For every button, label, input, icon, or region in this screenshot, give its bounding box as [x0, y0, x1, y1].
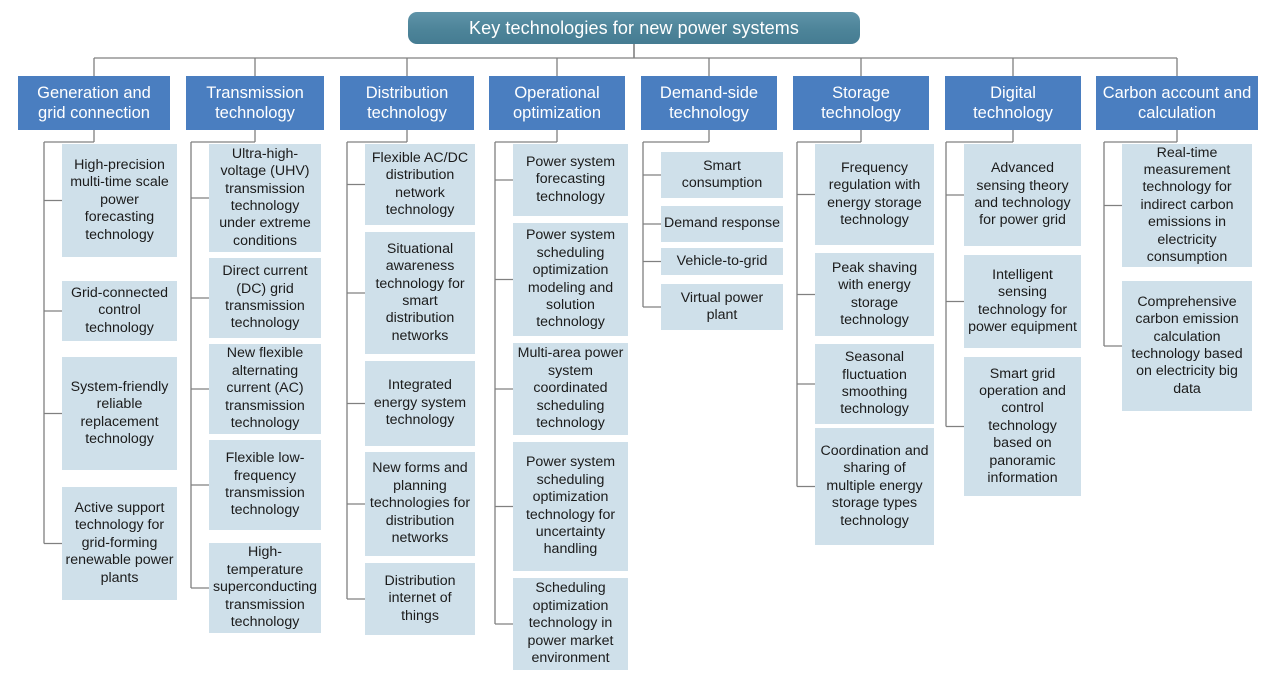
leaf-node[interactable]: Smart grid operation and control technol…: [964, 357, 1081, 496]
leaf-node[interactable]: Distribution internet of things: [365, 563, 475, 635]
column-header-label: Operational optimization: [493, 83, 621, 123]
leaf-node-label: Flexible AC/DC distribution network tech…: [368, 150, 472, 220]
column-header-label: Transmission technology: [190, 83, 320, 123]
leaf-node[interactable]: Scheduling optimization technology in po…: [513, 578, 628, 670]
leaf-node[interactable]: Intelligent sensing technology for power…: [964, 255, 1081, 348]
leaf-node-label: Active support technology for grid-formi…: [65, 500, 174, 587]
leaf-node-label: Distribution internet of things: [368, 573, 472, 625]
column-header-label: Generation and grid connection: [22, 83, 166, 123]
column-header-1[interactable]: Generation and grid connection: [18, 76, 170, 130]
leaf-node-label: Virtual power plant: [664, 290, 780, 325]
leaf-node-label: New forms and planning technologies for …: [368, 460, 472, 547]
leaf-node[interactable]: Flexible AC/DC distribution network tech…: [365, 144, 475, 225]
column-header-5[interactable]: Demand-side technology: [641, 76, 777, 130]
leaf-node[interactable]: Vehicle-to-grid: [661, 248, 783, 275]
leaf-node[interactable]: System-friendly reliable replacement tec…: [62, 357, 177, 470]
leaf-node-label: Smart consumption: [664, 158, 780, 193]
leaf-node-label: Direct current (DC) grid transmission te…: [212, 263, 318, 333]
leaf-node-label: Smart grid operation and control technol…: [967, 366, 1078, 488]
leaf-node[interactable]: Real-time measurement technology for ind…: [1122, 144, 1252, 267]
leaf-node[interactable]: Power system scheduling optimization mod…: [513, 223, 628, 336]
leaf-node[interactable]: Flexible low-frequency transmission tech…: [209, 440, 321, 530]
leaf-node[interactable]: Frequency regulation with energy storage…: [815, 144, 934, 245]
leaf-node-label: Power system scheduling optimization tec…: [516, 454, 625, 558]
leaf-node-label: Ultra-high-voltage (UHV) transmission te…: [212, 146, 318, 250]
leaf-node[interactable]: Integrated energy system technology: [365, 361, 475, 446]
leaf-node[interactable]: Power system scheduling optimization tec…: [513, 442, 628, 571]
leaf-node-label: Intelligent sensing technology for power…: [967, 267, 1078, 337]
leaf-node-label: Power system forecasting technology: [516, 154, 625, 206]
leaf-node[interactable]: Seasonal fluctuation smoothing technolog…: [815, 344, 934, 424]
column-header-label: Storage technology: [797, 83, 925, 123]
column-header-label: Digital technology: [949, 83, 1077, 123]
leaf-node-label: Situational awareness technology for sma…: [368, 241, 472, 345]
leaf-node[interactable]: Situational awareness technology for sma…: [365, 232, 475, 354]
leaf-node-label: Power system scheduling optimization mod…: [516, 227, 625, 331]
column-header-2[interactable]: Transmission technology: [186, 76, 324, 130]
leaf-node[interactable]: New forms and planning technologies for …: [365, 452, 475, 556]
leaf-node[interactable]: Advanced sensing theory and technology f…: [964, 144, 1081, 246]
leaf-node-label: Integrated energy system technology: [368, 377, 472, 429]
leaf-node[interactable]: High-temperature superconducting transmi…: [209, 543, 321, 633]
column-header-7[interactable]: Digital technology: [945, 76, 1081, 130]
leaf-node[interactable]: New flexible alternating current (AC) tr…: [209, 344, 321, 434]
leaf-node[interactable]: Demand response: [661, 206, 783, 242]
leaf-node[interactable]: Peak shaving with energy storage technol…: [815, 253, 934, 336]
leaf-node-label: Multi-area power system coordinated sche…: [516, 345, 625, 432]
leaf-node-label: Real-time measurement technology for ind…: [1125, 145, 1249, 267]
leaf-node-label: Coordination and sharing of multiple ene…: [818, 443, 931, 530]
leaf-node-label: Comprehensive carbon emission calculatio…: [1125, 294, 1249, 398]
leaf-node-label: Vehicle-to-grid: [677, 253, 768, 270]
leaf-node[interactable]: Ultra-high-voltage (UHV) transmission te…: [209, 144, 321, 252]
leaf-node[interactable]: Smart consumption: [661, 152, 783, 198]
leaf-node-label: Advanced sensing theory and technology f…: [967, 160, 1078, 230]
leaf-node[interactable]: High-precision multi-time scale power fo…: [62, 144, 177, 257]
leaf-node-label: System-friendly reliable replacement tec…: [65, 379, 174, 449]
leaf-node[interactable]: Power system forecasting technology: [513, 144, 628, 216]
leaf-node-label: Grid-connected control technology: [65, 285, 174, 337]
leaf-node-label: Scheduling optimization technology in po…: [516, 580, 625, 667]
column-header-6[interactable]: Storage technology: [793, 76, 929, 130]
root-node: Key technologies for new power systems: [408, 12, 860, 44]
tree-diagram: Key technologies for new power systems G…: [0, 0, 1274, 688]
leaf-node[interactable]: Multi-area power system coordinated sche…: [513, 343, 628, 435]
leaf-node[interactable]: Comprehensive carbon emission calculatio…: [1122, 281, 1252, 411]
leaf-node-label: Frequency regulation with energy storage…: [818, 160, 931, 230]
leaf-node-label: High-precision multi-time scale power fo…: [65, 157, 174, 244]
leaf-node-label: Seasonal fluctuation smoothing technolog…: [818, 349, 931, 419]
column-header-4[interactable]: Operational optimization: [489, 76, 625, 130]
column-header-label: Distribution technology: [344, 83, 470, 123]
leaf-node[interactable]: Coordination and sharing of multiple ene…: [815, 428, 934, 545]
column-header-3[interactable]: Distribution technology: [340, 76, 474, 130]
leaf-node-label: Demand response: [664, 215, 780, 232]
leaf-node[interactable]: Virtual power plant: [661, 284, 783, 330]
leaf-node[interactable]: Active support technology for grid-formi…: [62, 487, 177, 600]
leaf-node[interactable]: Grid-connected control technology: [62, 281, 177, 341]
leaf-node-label: Flexible low-frequency transmission tech…: [212, 450, 318, 520]
leaf-node-label: New flexible alternating current (AC) tr…: [212, 345, 318, 432]
leaf-node-label: Peak shaving with energy storage technol…: [818, 260, 931, 330]
leaf-node[interactable]: Direct current (DC) grid transmission te…: [209, 258, 321, 338]
column-header-label: Demand-side technology: [645, 83, 773, 123]
column-header-label: Carbon account and calculation: [1100, 83, 1254, 123]
leaf-node-label: High-temperature superconducting transmi…: [212, 544, 318, 631]
column-header-8[interactable]: Carbon account and calculation: [1096, 76, 1258, 130]
